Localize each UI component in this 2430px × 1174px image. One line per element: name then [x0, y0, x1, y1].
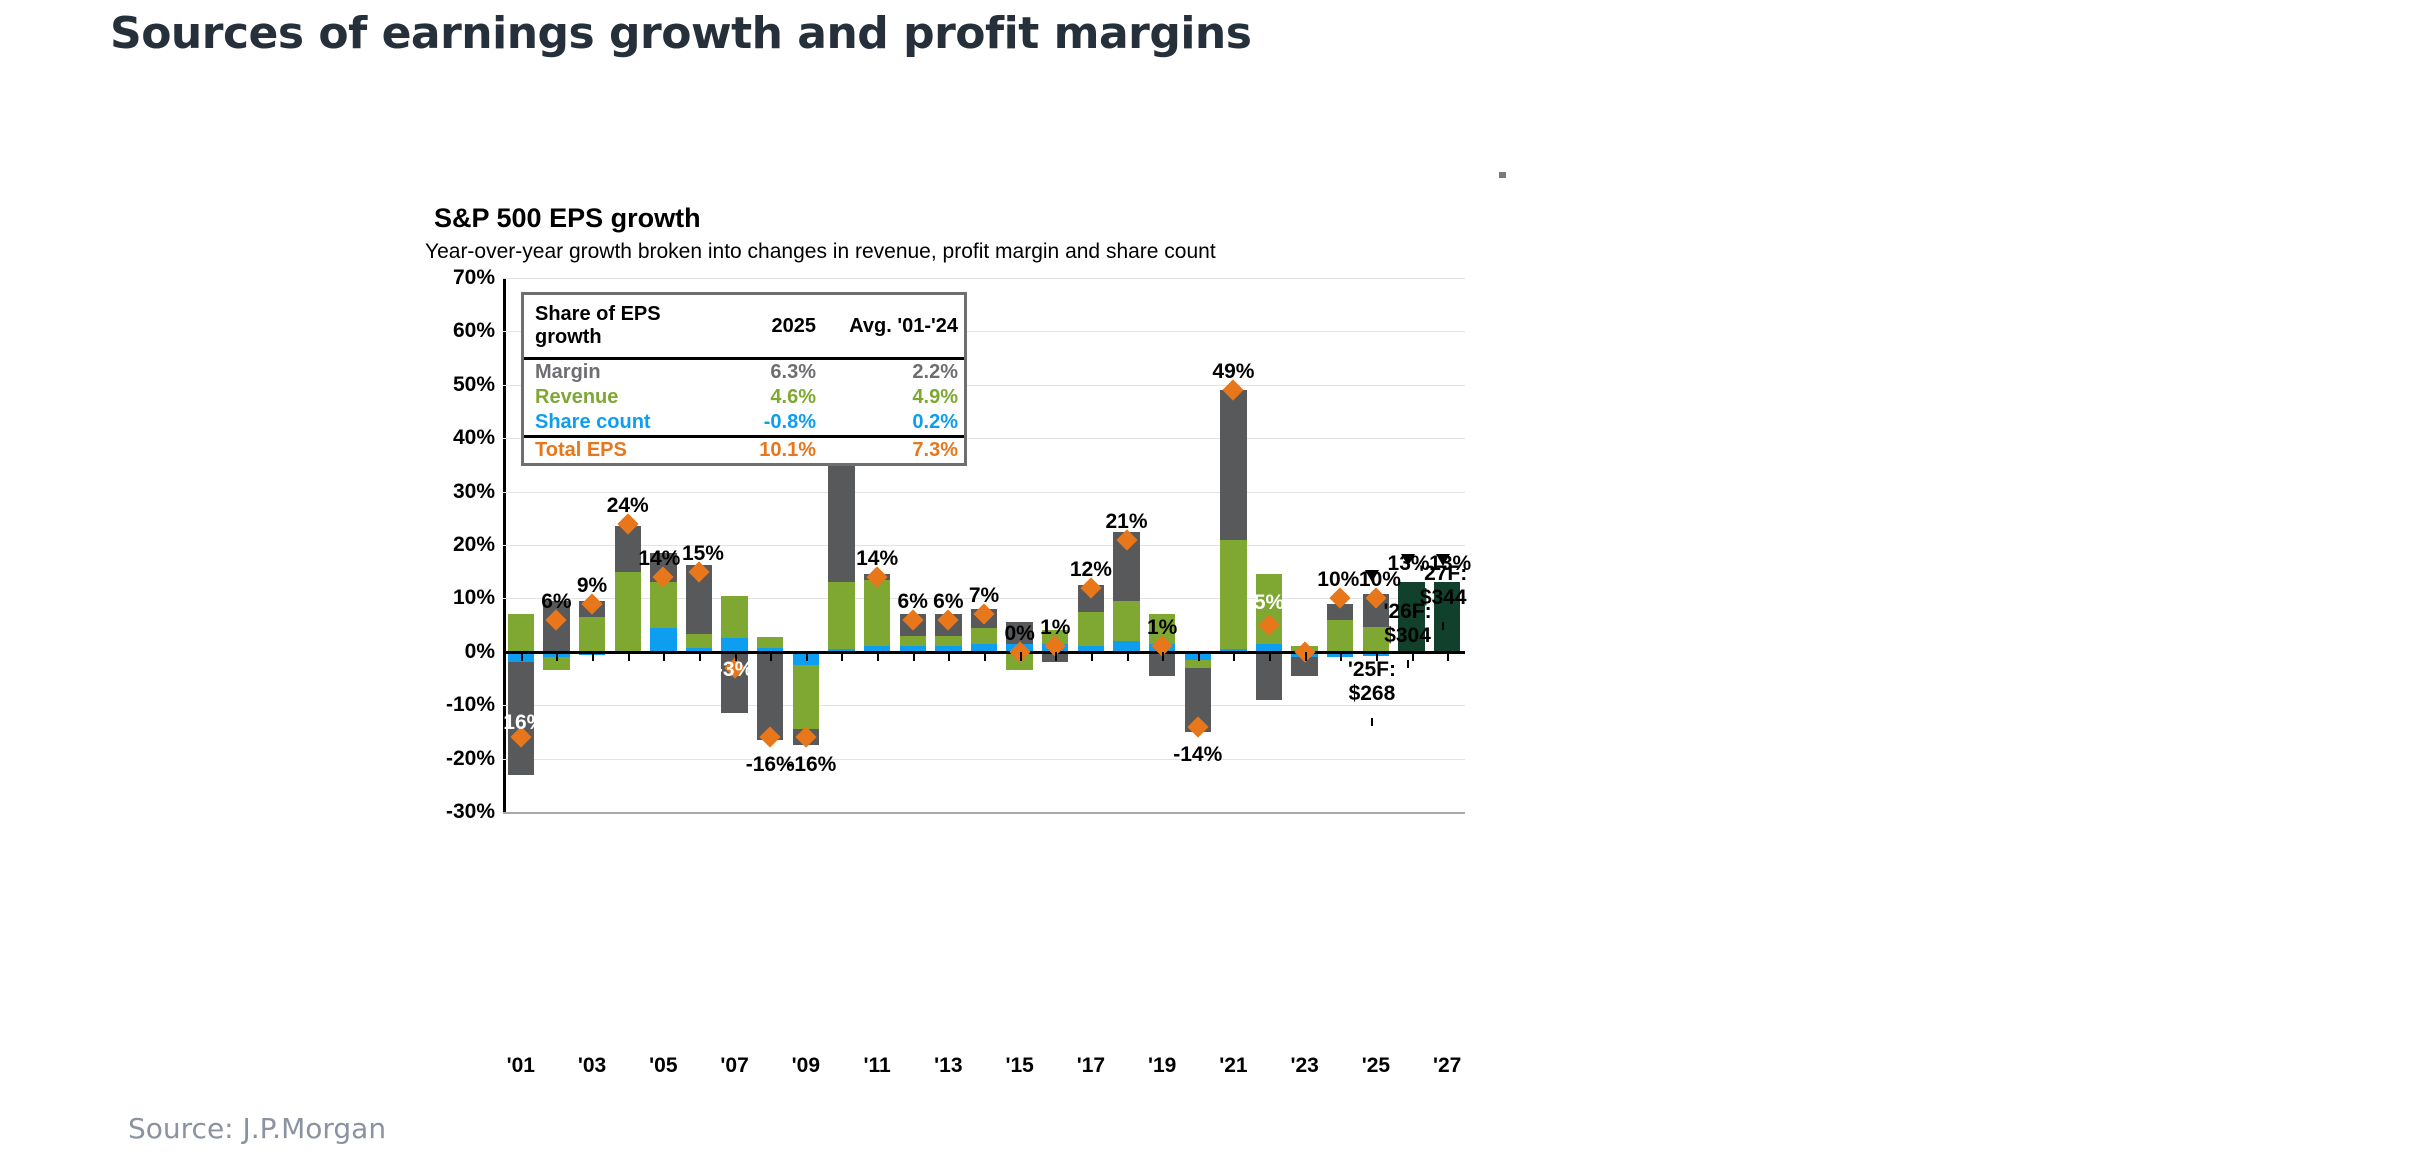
x-tickmark-06: [699, 652, 701, 661]
forecast-callout-27F-line: $344: [1419, 586, 1467, 610]
bar-segment-revenue-24: [1327, 620, 1353, 652]
value-label-18: 21%: [1106, 510, 1148, 534]
forecast-arrow-line-27F: [1442, 622, 1444, 630]
x-tickmark-19: [1162, 652, 1164, 661]
legend-row-revenue-2025: 4.6%: [700, 385, 822, 410]
x-axis-labels: '01'03'05'07'09'11'13'15'17'19'21'23'25'…: [503, 1054, 1465, 1084]
x-axis-tick-17: '17: [1077, 1054, 1105, 1078]
forecast-arrow-head-27F: [1436, 554, 1450, 566]
legend-row-revenue-label: Revenue: [524, 385, 700, 410]
x-tickmark-07: [735, 652, 737, 661]
bar-segment-revenue-01: [508, 614, 534, 651]
x-tickmark-02: [556, 652, 558, 661]
bar-segment-revenue-07: [721, 596, 747, 639]
x-tickmark-04: [628, 652, 630, 661]
bar-column-25[interactable]: [1363, 278, 1389, 812]
value-label-14: 7%: [969, 584, 999, 608]
value-label-21: 49%: [1212, 360, 1254, 384]
x-tickmark-15: [1020, 652, 1022, 661]
legend-row-margin-label: Margin: [524, 359, 700, 386]
x-tickmark-03: [592, 652, 594, 661]
bar-segment-revenue-18: [1113, 601, 1139, 641]
x-tickmark-08: [770, 652, 772, 661]
legend-table: Share of EPS growth 2025 Avg. '01-'24 Ma…: [521, 292, 967, 466]
x-tickmark-05: [663, 652, 665, 661]
forecast-arrow-head-25F: [1365, 570, 1379, 582]
bar-column-24[interactable]: [1327, 278, 1353, 812]
value-label-17: 12%: [1070, 558, 1112, 582]
x-axis-tick-21: '21: [1219, 1054, 1247, 1078]
x-axis-tick-15: '15: [1005, 1054, 1033, 1078]
bar-segment-share-count-07: [721, 638, 747, 651]
bar-column-17[interactable]: [1078, 278, 1104, 812]
chart-subtitle: Year-over-year growth broken into change…: [425, 240, 1216, 264]
value-label-13: 6%: [933, 590, 963, 614]
x-tickmark-21: [1233, 652, 1235, 661]
legend-row-margin-avg: 2.2%: [822, 359, 964, 386]
bar-column-26[interactable]: [1398, 278, 1424, 812]
y-axis-tick-20: 20%: [415, 533, 495, 557]
bar-segment-revenue-05: [650, 582, 676, 627]
legend-header-row: Share of EPS growth 2025 Avg. '01-'24: [524, 295, 964, 359]
bar-segment-revenue-14: [971, 628, 997, 644]
value-label-09: -16%: [787, 753, 836, 777]
bar-segment-revenue-17: [1078, 612, 1104, 647]
bar-segment-revenue-04: [615, 572, 641, 652]
x-tickmark-10: [841, 652, 843, 661]
legend-row-share-count: Share count -0.8% 0.2%: [524, 410, 964, 437]
forecast-callout-25F-line: '25F:: [1348, 658, 1396, 682]
x-axis-baseline: [503, 812, 1465, 814]
bar-segment-share-count-05: [650, 628, 676, 652]
x-axis-tick-19: '19: [1148, 1054, 1176, 1078]
value-label-24: 10%: [1317, 568, 1359, 592]
bar-segment-revenue-11: [864, 580, 890, 647]
bar-column-22[interactable]: [1256, 278, 1282, 812]
forecast-callout-26F-line: $304: [1383, 624, 1431, 648]
bar-column-23[interactable]: [1291, 278, 1317, 812]
x-axis-tick-05: '05: [649, 1054, 677, 1078]
bar-segment-revenue-09: [793, 665, 819, 729]
x-axis-tick-11: '11: [864, 1054, 891, 1078]
x-tickmark-16: [1055, 652, 1057, 661]
x-tickmark-27: [1447, 652, 1449, 661]
legend-row-total-eps-2025: 10.1%: [700, 437, 822, 464]
value-label-19: 1%: [1147, 616, 1177, 640]
forecast-callout-25F: '25F:$268: [1348, 658, 1396, 705]
legend-row-share-count-avg: 0.2%: [822, 410, 964, 437]
legend-row-revenue-avg: 4.9%: [822, 385, 964, 410]
value-label-05: 14%: [638, 547, 680, 571]
x-axis-tick-07: '07: [720, 1054, 748, 1078]
value-label-15: 0%: [1004, 622, 1034, 646]
y-axis-tick--20: -20%: [415, 747, 495, 771]
bar-column-16[interactable]: [1042, 278, 1068, 812]
bar-column-21[interactable]: [1220, 278, 1246, 812]
x-axis-tick-01: '01: [507, 1054, 535, 1078]
y-axis-tick-60: 60%: [415, 319, 495, 343]
value-label-20: -14%: [1173, 743, 1222, 767]
legend-header-2: Avg. '01-'24: [822, 295, 964, 359]
legend-row-revenue: Revenue 4.6% 4.9%: [524, 385, 964, 410]
bar-segment-revenue-10: [828, 582, 854, 649]
bar-segment-margin-21: [1220, 390, 1246, 540]
bar-segment-revenue-21: [1220, 540, 1246, 649]
value-label-02: 6%: [541, 590, 571, 614]
legend-row-total-eps-label: Total EPS: [524, 437, 700, 464]
x-axis-tick-23: '23: [1290, 1054, 1318, 1078]
legend-row-total-eps: Total EPS 10.1% 7.3%: [524, 437, 964, 464]
y-axis-tick-70: 70%: [415, 266, 495, 290]
x-axis-tick-03: '03: [578, 1054, 606, 1078]
bar-segment-revenue-03: [579, 617, 605, 652]
legend-row-share-count-label: Share count: [524, 410, 700, 437]
x-axis-tick-27: '27: [1433, 1054, 1461, 1078]
legend-row-margin: Margin 6.3% 2.2%: [524, 359, 964, 386]
value-label-16: 1%: [1040, 616, 1070, 640]
x-tickmark-17: [1091, 652, 1093, 661]
bar-segment-revenue-12: [900, 636, 926, 647]
bar-segment-revenue-08: [757, 637, 783, 648]
y-axis-tick--10: -10%: [415, 693, 495, 717]
forecast-arrow-head-26F: [1401, 554, 1415, 566]
x-axis-tick-25: '25: [1362, 1054, 1390, 1078]
value-label-12: 6%: [898, 590, 928, 614]
value-label-22: 5%: [1254, 591, 1284, 615]
bar-column-15[interactable]: [1006, 278, 1032, 812]
y-axis-tick-40: 40%: [415, 426, 495, 450]
forecast-callout-25F-line: $268: [1348, 682, 1396, 706]
legend-row-total-eps-avg: 7.3%: [822, 437, 964, 464]
x-tickmark-20: [1198, 652, 1200, 661]
y-axis-tick-0: 0%: [415, 640, 495, 664]
value-label-06: 15%: [682, 542, 724, 566]
bar-segment-revenue-13: [935, 636, 961, 647]
legend-header-0: Share of EPS growth: [524, 295, 700, 359]
y-axis-tick-30: 30%: [415, 480, 495, 504]
value-label-23: 0%: [1289, 620, 1319, 644]
x-axis-tick-09: '09: [792, 1054, 820, 1078]
value-label-04: 24%: [607, 494, 649, 518]
y-axis-tick-50: 50%: [415, 373, 495, 397]
x-tickmark-18: [1127, 652, 1129, 661]
legend-row-margin-2025: 6.3%: [700, 359, 822, 386]
x-tickmark-01: [521, 652, 523, 661]
chart-title: S&P 500 EPS growth: [434, 203, 701, 234]
legend-row-share-count-2025: -0.8%: [700, 410, 822, 437]
value-label-01: -16%: [496, 711, 545, 735]
x-tickmark-13: [948, 652, 950, 661]
bar-column-14[interactable]: [971, 278, 997, 812]
y-axis-tick-10: 10%: [415, 586, 495, 610]
x-tickmark-24: [1340, 652, 1342, 661]
value-label-07: -3%: [716, 658, 753, 682]
bar-segment-revenue-20: [1185, 660, 1211, 668]
forecast-arrow-line-25F: [1371, 718, 1373, 726]
value-label-03: 9%: [577, 574, 607, 598]
forecast-callout-27F: '27F:$344: [1419, 562, 1467, 609]
x-tickmark-11: [877, 652, 879, 661]
x-tickmark-23: [1305, 652, 1307, 661]
x-axis-tick-13: '13: [934, 1054, 962, 1078]
x-tickmark-26: [1412, 652, 1414, 661]
legend-header-1: 2025: [700, 295, 822, 359]
bar-column-27[interactable]: [1434, 278, 1460, 812]
x-tickmark-12: [913, 652, 915, 661]
bar-segment-revenue-06: [686, 634, 712, 647]
bar-column-19[interactable]: [1149, 278, 1175, 812]
y-axis-labels: 70%60%50%40%30%20%10%0%-10%-20%-30%: [405, 278, 495, 812]
x-tickmark-09: [806, 652, 808, 661]
chart-container: S&P 500 EPS growth Year-over-year growth…: [0, 0, 2430, 1174]
x-tickmark-14: [984, 652, 986, 661]
y-axis-tick--30: -30%: [415, 800, 495, 824]
value-label-11: 14%: [856, 547, 898, 571]
forecast-arrow-line-26F: [1407, 660, 1409, 668]
x-tickmark-22: [1269, 652, 1271, 661]
